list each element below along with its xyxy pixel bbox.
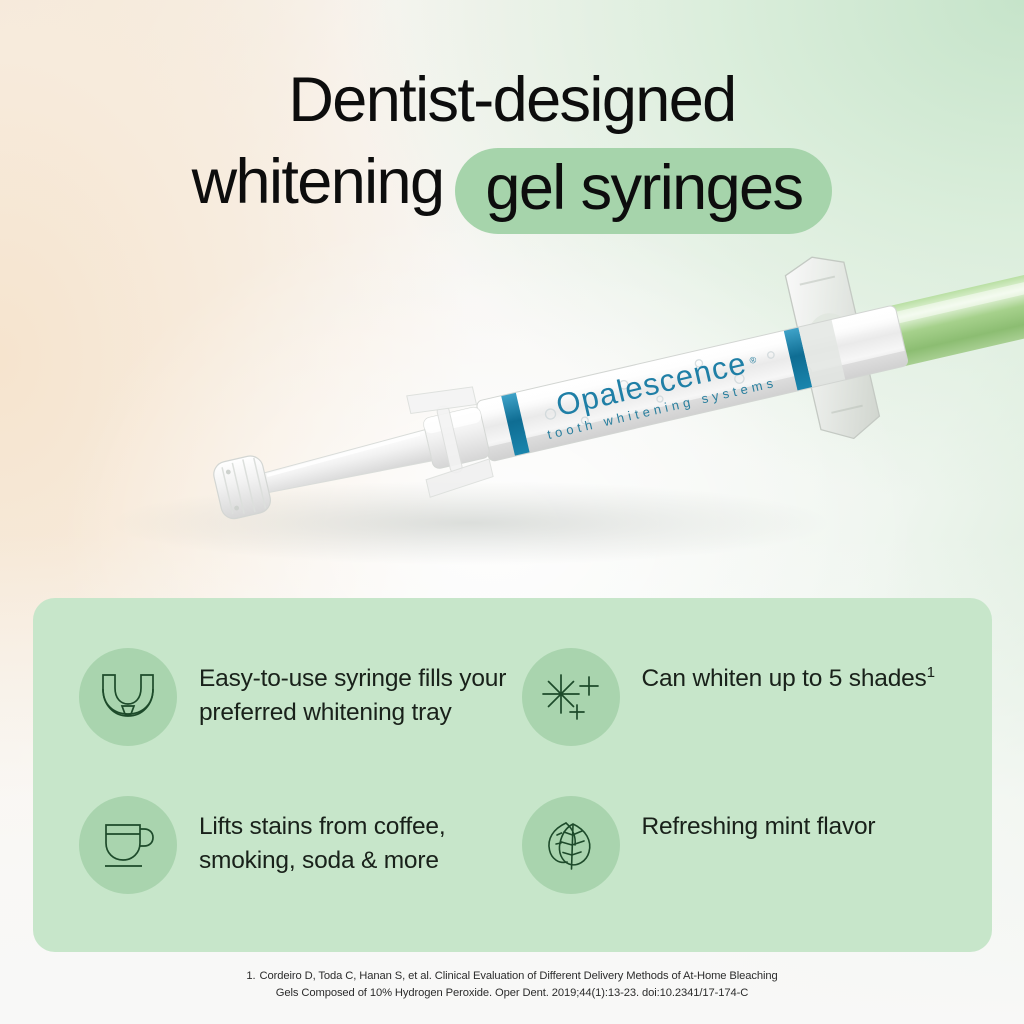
mint-leaves-icon xyxy=(522,796,620,894)
feature-text: Refreshing mint flavor xyxy=(642,796,876,844)
feature-text: Can whiten up to 5 shades1 xyxy=(642,648,935,696)
headline-highlight-pill: gel syringes xyxy=(455,148,832,234)
feature-text: Lifts stains from coffee, smoking, soda … xyxy=(199,796,509,878)
page-headline: Dentist-designed whiteninggel syringes xyxy=(0,62,1024,228)
headline-line-1: Dentist-designed xyxy=(0,62,1024,138)
product-image-opalescence-syringe: Opalescence tooth whitening systems ® xyxy=(0,255,1024,595)
headline-plain-text: whitening xyxy=(192,147,444,217)
feature-item-shades: Can whiten up to 5 shades1 xyxy=(522,648,959,746)
sparkle-icon xyxy=(522,648,620,746)
feature-text: Easy-to-use syringe fills your preferred… xyxy=(199,648,509,730)
headline-line-2: whiteninggel syringes xyxy=(0,142,1024,228)
footnote-number: 1. xyxy=(246,970,255,982)
feature-item-stains: Lifts stains from coffee, smoking, soda … xyxy=(79,796,516,894)
coffee-cup-icon xyxy=(79,796,177,894)
dental-tray-icon xyxy=(79,648,177,746)
feature-item-flavor: Refreshing mint flavor xyxy=(522,796,959,894)
features-grid: Easy-to-use syringe fills your preferred… xyxy=(79,648,958,894)
features-card: Easy-to-use syringe fills your preferred… xyxy=(33,598,992,952)
feature-item-tray: Easy-to-use syringe fills your preferred… xyxy=(79,648,516,746)
footnote-marker: 1 xyxy=(927,664,935,681)
footnote-line-1: 1.Cordeiro D, Toda C, Hanan S, et al. Cl… xyxy=(0,968,1024,985)
footnote-citation: 1.Cordeiro D, Toda C, Hanan S, et al. Cl… xyxy=(0,968,1024,1002)
footnote-line-2: Gels Composed of 10% Hydrogen Peroxide. … xyxy=(0,985,1024,1002)
